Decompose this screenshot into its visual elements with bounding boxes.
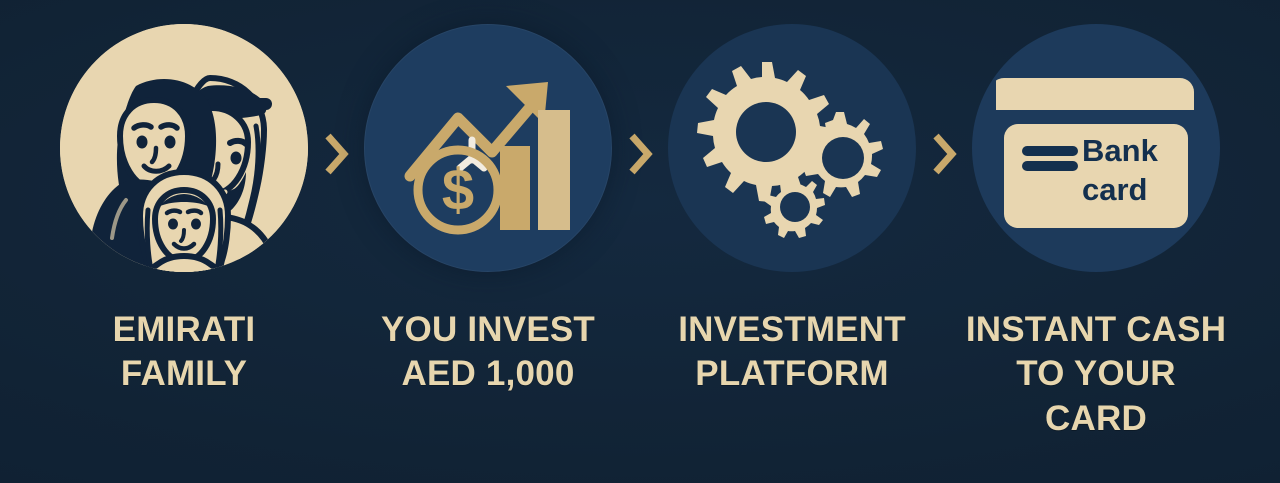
next-step-arrow [926, 0, 962, 176]
card-top-strip [996, 78, 1194, 110]
bank-card-icon: Bank card [972, 24, 1220, 272]
step-instant-cash: Bank card INSTANT CASH TO YOUR CARD [962, 0, 1230, 441]
investment-growth-chart-icon: $ [364, 24, 612, 272]
card-label-line2: card [1082, 172, 1147, 207]
next-step-arrow [318, 0, 354, 176]
step-caption: INSTANT CASH TO YOUR CARD [962, 308, 1230, 441]
step-you-invest: $ YOU INVEST AED 1,000 [354, 0, 622, 397]
steps-row: EMIRATI FAMILY $ [0, 0, 1280, 483]
step-investment-platform: INVESTMENT PLATFORM [658, 0, 926, 397]
step-caption: EMIRATI FAMILY [113, 308, 256, 397]
step-caption: INVESTMENT PLATFORM [678, 308, 906, 397]
gear-large [697, 62, 836, 202]
next-step-arrow [622, 0, 658, 176]
investment-flow-infographic: EMIRATI FAMILY $ [0, 0, 1280, 483]
gears-icon [668, 24, 916, 272]
step-emirati-family: EMIRATI FAMILY [50, 0, 318, 397]
card-label-line1: Bank [1082, 133, 1159, 168]
step-caption: YOU INVEST AED 1,000 [381, 308, 595, 397]
emirati-family-icon [60, 24, 308, 272]
dollar-sign: $ [442, 158, 474, 223]
